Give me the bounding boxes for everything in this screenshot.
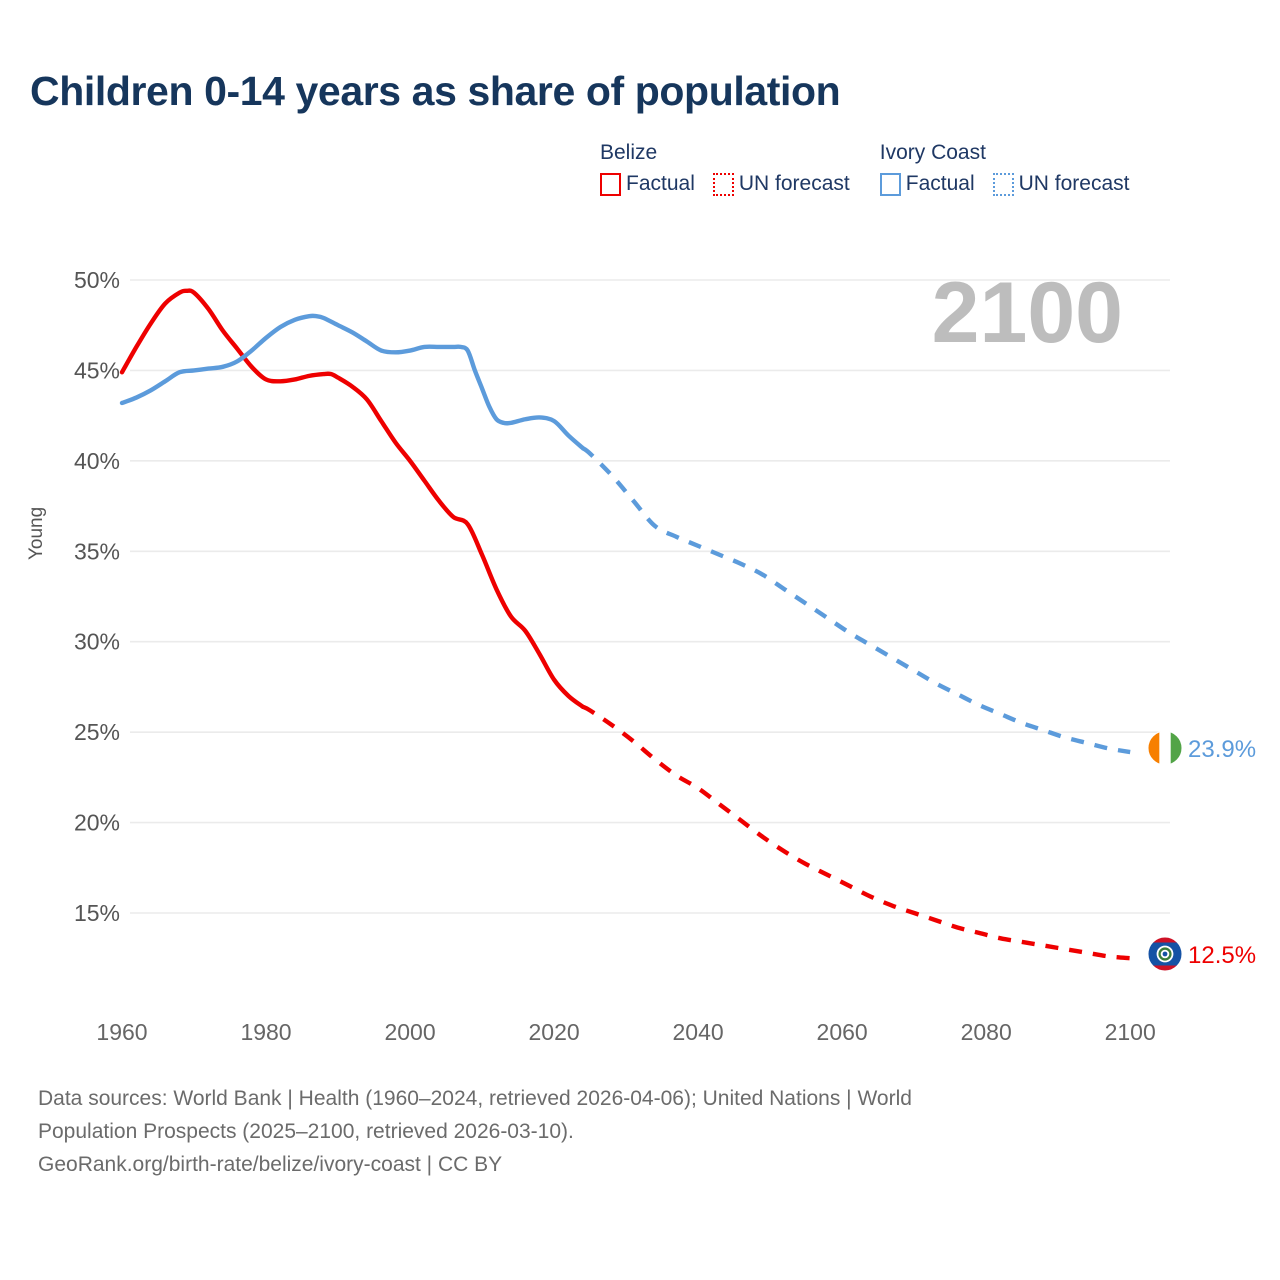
end-label-ivory-coast: 23.9% [1188,736,1256,763]
belize-flag-icon [1148,937,1182,971]
y-tick-label: 30% [74,629,120,655]
y-tick-label: 50% [74,267,120,293]
x-tick-label: 2060 [817,1019,868,1045]
chart-svg: 50%45%40%35%30%25%20%15% 196019802000202… [0,0,1280,1060]
end-label-belize: 12.5% [1188,942,1256,969]
series-lines [122,291,1130,959]
y-tick-label: 20% [74,810,120,836]
y-tick-label: 35% [74,538,120,564]
chart-container: Children 0-14 years as share of populati… [0,0,1280,1280]
series-line-factual [122,316,583,448]
y-tick-label: 40% [74,448,120,474]
series-line-forecast [583,448,1130,752]
x-tick-label: 2100 [1105,1019,1156,1045]
y-tick-label: 15% [74,900,120,926]
x-tick-label: 2080 [961,1019,1012,1045]
x-tick-label: 1960 [96,1019,147,1045]
footer-sources: Data sources: World Bank | Health (1960–… [38,1082,1238,1181]
x-tick-label: 1980 [240,1019,291,1045]
y-tick-label: 25% [74,719,120,745]
year-watermark: 2100 [932,265,1123,361]
gridlines [130,280,1170,913]
x-tick-label: 2040 [673,1019,724,1045]
y-axis-label: Young [26,507,48,560]
footer-line-3: GeoRank.org/birth-rate/belize/ivory-coas… [38,1148,1238,1181]
footer-line-1: Data sources: World Bank | Health (1960–… [38,1082,1238,1115]
y-axis-ticks: 50%45%40%35%30%25%20%15% [74,267,120,926]
footer-line-2: Population Prospects (2025–2100, retriev… [38,1115,1238,1148]
y-tick-label: 45% [74,357,120,383]
series-line-factual [122,291,583,707]
x-tick-label: 2000 [384,1019,435,1045]
ivory-coast-flag-icon [1148,731,1182,765]
series-line-forecast [583,707,1130,958]
x-axis-ticks: 19601980200020202040206020802100 [96,1019,1155,1045]
x-tick-label: 2020 [528,1019,579,1045]
plot-area: Young 50%45%40%35%30%25%20%15% 196019802… [0,0,1280,1060]
